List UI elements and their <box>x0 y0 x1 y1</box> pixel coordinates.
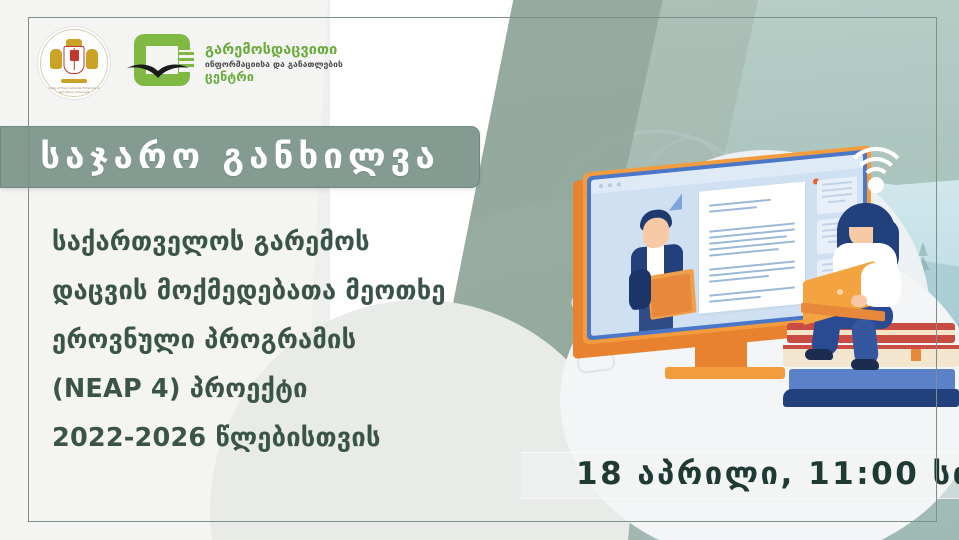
laptop-logo-icon <box>837 289 843 295</box>
book-item <box>783 389 959 407</box>
poster-canvas: Ministry of Environmental Protection and… <box>0 0 959 540</box>
document-page <box>699 181 805 313</box>
poster-body-text: საქართველოს გარემოს დაცვის მოქმედებათა მ… <box>52 218 472 463</box>
body-line-1: საქართველოს გარემოს <box>52 218 472 267</box>
body-line-3: ეროვნული პროგრამის <box>52 316 472 365</box>
wifi-icon <box>841 147 911 195</box>
shoe-icon <box>805 349 833 360</box>
center-logo-mark-icon <box>132 34 196 92</box>
illustration <box>555 145 959 407</box>
person-arm <box>629 268 651 310</box>
open-book-icon <box>127 61 189 85</box>
monitor-base <box>665 367 785 379</box>
document-fold-icon <box>669 193 682 210</box>
banner-public-discussion: საჯარო განხილვა <box>0 126 480 188</box>
ministry-emblem-caption: Ministry of Environmental Protection and… <box>38 87 110 94</box>
person-hand <box>851 295 867 307</box>
body-line-4: (NEAP 4) პროექტი <box>52 365 472 414</box>
center-logo: გარემოსდაცვითი ინფორმაციისა და განათლები… <box>132 34 343 92</box>
event-date-time: 18 აპრილი, 11:00 სთ <box>576 456 959 492</box>
center-logo-line2: ინფორმაციისა და განათლების <box>205 60 343 68</box>
center-logo-line3: ცენტრი <box>205 71 343 84</box>
video-call-person <box>625 202 695 333</box>
center-logo-text: გარემოსდაცვითი ინფორმაციისა და განათლები… <box>205 43 343 83</box>
person-head <box>643 217 669 250</box>
center-logo-line1: გარემოსდაცვითი <box>205 43 343 58</box>
logo-row: Ministry of Environmental Protection and… <box>38 27 343 99</box>
book-item <box>789 369 955 391</box>
body-line-5: 2022-2026 წლებისთვის <box>52 414 472 463</box>
ministry-emblem-icon: Ministry of Environmental Protection and… <box>38 27 110 99</box>
banner-title: საჯარო განხილვა <box>40 137 439 177</box>
person-arm <box>861 263 901 307</box>
shoe-icon <box>851 359 879 370</box>
body-line-2: დაცვის მოქმედებათა მეოთხე <box>52 267 472 316</box>
person-with-laptop <box>807 203 937 363</box>
folder-icon <box>650 273 693 317</box>
